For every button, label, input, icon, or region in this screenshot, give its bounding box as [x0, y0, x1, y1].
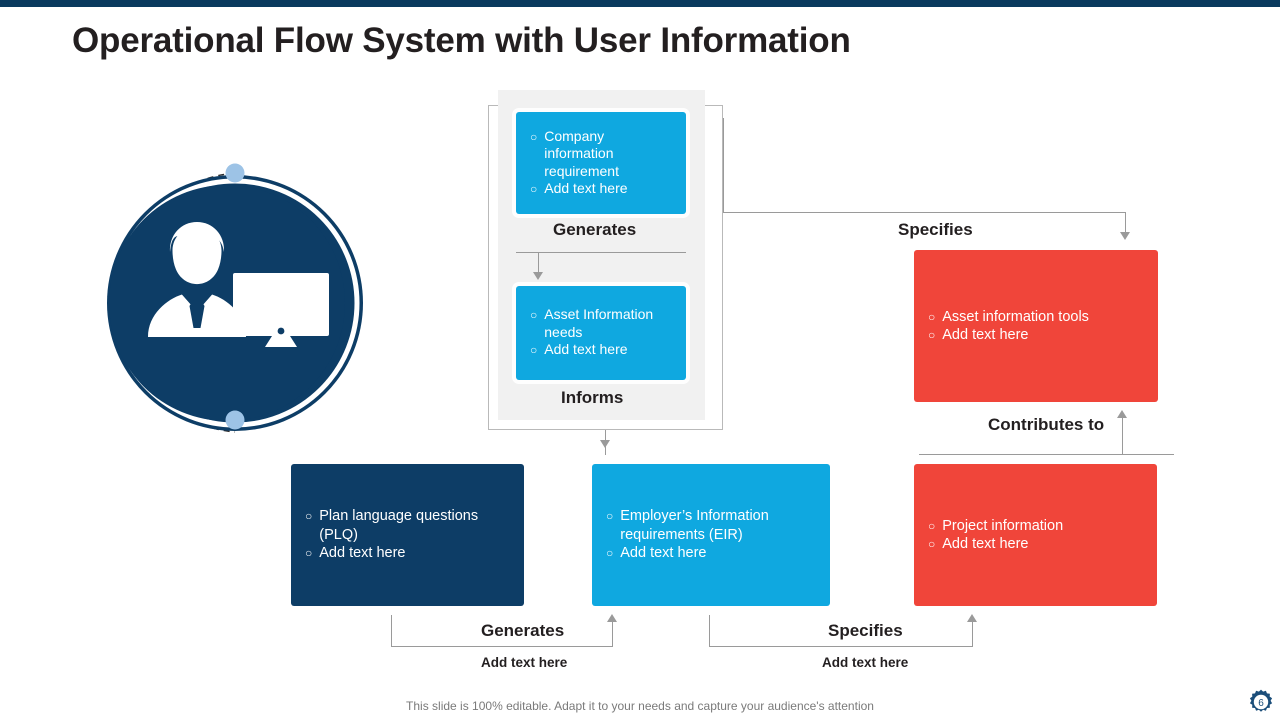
label-specifies-top: Specifies	[898, 220, 973, 240]
bullet-marker-icon: ○	[530, 306, 537, 325]
center-divider-line	[516, 252, 686, 253]
bullet-item: ○ Plan language questions (PLQ)	[305, 507, 510, 544]
label-informs: Informs	[561, 388, 623, 408]
bullet-marker-icon: ○	[928, 517, 935, 536]
bullet-item: ○ Company information requirement	[530, 128, 672, 181]
page-number-gear-icon: 6	[1247, 688, 1275, 716]
generates-bottom-arrow-head-icon	[607, 614, 617, 622]
bullet-marker-icon: ○	[530, 341, 537, 360]
page-number-text: 6	[1258, 698, 1264, 709]
label-specifies-bottom: Specifies	[828, 621, 903, 641]
contributes-connector-horizontal	[919, 454, 1174, 455]
label-generates-bottom: Generates	[481, 621, 564, 641]
slide-canvas: Operational Flow System with User Inform…	[0, 0, 1280, 720]
specifies-connector-vertical	[723, 118, 724, 212]
bullet-marker-icon: ○	[530, 180, 537, 199]
bullet-marker-icon: ○	[305, 544, 312, 563]
specifies-bottom-arrow-stem	[972, 622, 973, 646]
bullet-marker-icon: ○	[606, 507, 613, 526]
label-generates-top: Generates	[553, 220, 636, 240]
bullet-marker-icon: ○	[928, 308, 935, 327]
label-add-text-left: Add text here	[481, 655, 567, 670]
generates-bottom-connector-horizontal	[391, 646, 613, 647]
employers-information-requirements-card[interactable]: ○ Employer’s Information requirements (E…	[592, 464, 830, 606]
specifies-connector-horizontal	[723, 212, 1126, 213]
specifies-bottom-connector-vertical	[709, 615, 710, 647]
bullet-item: ○ Add text here	[606, 544, 816, 563]
specifies-bottom-connector-horizontal	[709, 646, 973, 647]
specifies-arrow-stem	[1125, 212, 1126, 234]
bullet-item: ○ Asset Information needs	[530, 306, 672, 341]
bullet-marker-icon: ○	[928, 535, 935, 554]
asset-information-needs-card[interactable]: ○ Asset Information needs ○ Add text her…	[516, 286, 686, 380]
bullet-marker-icon: ○	[530, 128, 537, 147]
bullet-marker-icon: ○	[928, 326, 935, 345]
bullet-marker-icon: ○	[606, 544, 613, 563]
project-information-card[interactable]: ○ Project information ○ Add text here	[914, 464, 1157, 606]
generates-bottom-arrow-stem	[612, 622, 613, 646]
center-arrow-head-icon	[533, 272, 543, 280]
contributes-arrow-head-icon	[1117, 410, 1127, 418]
bullet-item: ○ Asset information tools	[928, 308, 1144, 327]
label-contributes-to: Contributes to	[988, 415, 1104, 435]
user-at-computer-icon	[100, 160, 385, 445]
asset-information-tools-card[interactable]: ○ Asset information tools ○ Add text her…	[914, 250, 1158, 402]
specifies-bottom-arrow-head-icon	[967, 614, 977, 622]
contributes-arrow-stem	[1122, 418, 1123, 454]
bullet-item: ○ Project information	[928, 517, 1143, 536]
bullet-item: ○ Employer’s Information requirements (E…	[606, 507, 816, 544]
bullet-item: ○ Add text here	[928, 535, 1143, 554]
bullet-item: ○ Add text here	[305, 544, 510, 563]
bullet-item: ○ Add text here	[928, 326, 1144, 345]
bullet-item: ○ Add text here	[530, 341, 672, 360]
specifies-arrow-head-icon	[1120, 232, 1130, 240]
generates-bottom-connector-vertical	[391, 615, 392, 647]
bullet-item: ○ Add text here	[530, 180, 672, 199]
eir-arrow-head-icon	[600, 440, 610, 448]
center-arrow-stem	[538, 252, 539, 274]
plain-language-questions-card[interactable]: ○ Plan language questions (PLQ) ○ Add te…	[291, 464, 524, 606]
label-add-text-right: Add text here	[822, 655, 908, 670]
company-information-requirement-card[interactable]: ○ Company information requirement ○ Add …	[516, 112, 686, 214]
footer-note: This slide is 100% editable. Adapt it to…	[0, 699, 1280, 713]
page-title: Operational Flow System with User Inform…	[72, 21, 851, 61]
bullet-marker-icon: ○	[305, 507, 312, 526]
top-accent-bar	[0, 0, 1280, 7]
